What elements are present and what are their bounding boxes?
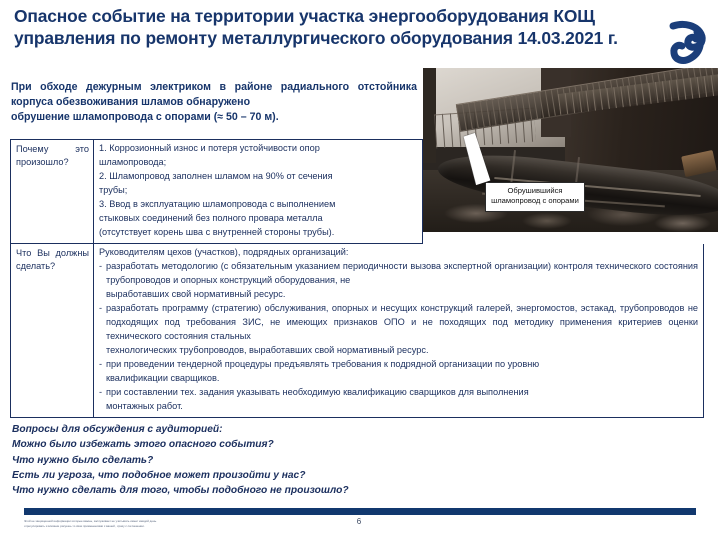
question-line-2: произошло?: [16, 157, 69, 167]
discussion-question-4: Что нужно сделать для того, чтобы подобн…: [12, 483, 432, 498]
table-cell-question: Что Вы должны сделать?: [11, 244, 94, 417]
discussion-question-1: Можно было избежать этого опасного событ…: [12, 437, 432, 452]
action-bullet-body: разработать методологию (с обязательным …: [106, 261, 698, 285]
page-number: 6: [344, 517, 374, 526]
intro-paragraph: При обходе дежурным электриком в районе …: [11, 80, 417, 125]
cause-line-1: 1. Коррозионный износ и потеря устойчиво…: [99, 142, 417, 156]
action-bullet: разработать методологию (с обязательным …: [99, 260, 698, 302]
action-bullet-tail: монтажных работ.: [106, 400, 698, 414]
action-bullet-body: при проведении тендерной процедуры предъ…: [106, 359, 539, 369]
cause-line-6: стыковых соединений без полного провара …: [99, 212, 417, 226]
discussion-question-2: Что нужно было сделать?: [12, 453, 432, 468]
action-lead-in: Руководителям цехов (участков), подрядны…: [99, 246, 698, 260]
question-line-1: Что Вы: [16, 248, 50, 258]
page-title: Опасное событие на территории участка эн…: [14, 5, 686, 50]
intro-text-main: При обходе дежурным электриком в районе …: [11, 81, 417, 108]
question-line-3: сделать?: [16, 261, 55, 271]
slide-root: Опасное событие на территории участка эн…: [0, 0, 720, 540]
question-line-1: Почему это: [16, 144, 89, 154]
action-bullet-body: при составлении тех. задания указывать н…: [106, 387, 529, 397]
footer-disclaimer: Этой не защищенной информации которые ва…: [24, 519, 354, 528]
cause-line-7: (отсутствует корень шва с внутренней сто…: [99, 226, 417, 240]
footer-disclaimer-line-2: отрегулировать и влияние рисуешь то свои…: [24, 524, 354, 529]
incident-table: Почему это произошло? 1. Коррозионный из…: [10, 139, 704, 418]
cause-line-4: трубы;: [99, 184, 417, 198]
intro-text-last: обрушение шламопровода с опорами (≈ 50 –…: [11, 110, 417, 125]
action-bullet-tail: выработавших свой нормативный ресурс.: [106, 288, 698, 302]
action-bullet: при проведении тендерной процедуры предъ…: [99, 358, 698, 386]
cause-line-2: шламопровода;: [99, 156, 417, 170]
action-bullet: при составлении тех. задания указывать н…: [99, 386, 698, 414]
company-logo: [663, 18, 713, 68]
table-cell-question: Почему это произошло?: [11, 140, 94, 243]
discussion-question-3: Есть ли угроза, что подобное может произ…: [12, 468, 432, 483]
cause-line-5: 3. Ввод в эксплуатацию шламопровода с вы…: [99, 198, 417, 212]
discussion-heading: Вопросы для обсуждения с аудиторией:: [12, 422, 432, 437]
action-bullet-tail: квалификации сварщиков.: [106, 372, 698, 386]
table-cell-answer: 1. Коррозионный износ и потеря устойчиво…: [94, 140, 422, 243]
table-cell-answer: Руководителям цехов (участков), подрядны…: [94, 244, 703, 417]
table-row: Почему это произошло? 1. Коррозионный из…: [10, 139, 423, 244]
discussion-questions: Вопросы для обсуждения с аудиторией: Мож…: [12, 422, 432, 498]
action-bullet-tail: технологических трубопроводов, выработав…: [106, 344, 698, 358]
footer-accent-bar: [24, 508, 696, 515]
action-bullet-body: разработать программу (стратегию) обслуж…: [106, 303, 698, 341]
question-line-2: должны: [56, 248, 89, 258]
cause-line-3: 2. Шламопровод заполнен шламом на 90% от…: [99, 170, 417, 184]
action-bullet: разработать программу (стратегию) обслуж…: [99, 302, 698, 358]
table-row: Что Вы должны сделать? Руководителям цех…: [10, 244, 704, 418]
